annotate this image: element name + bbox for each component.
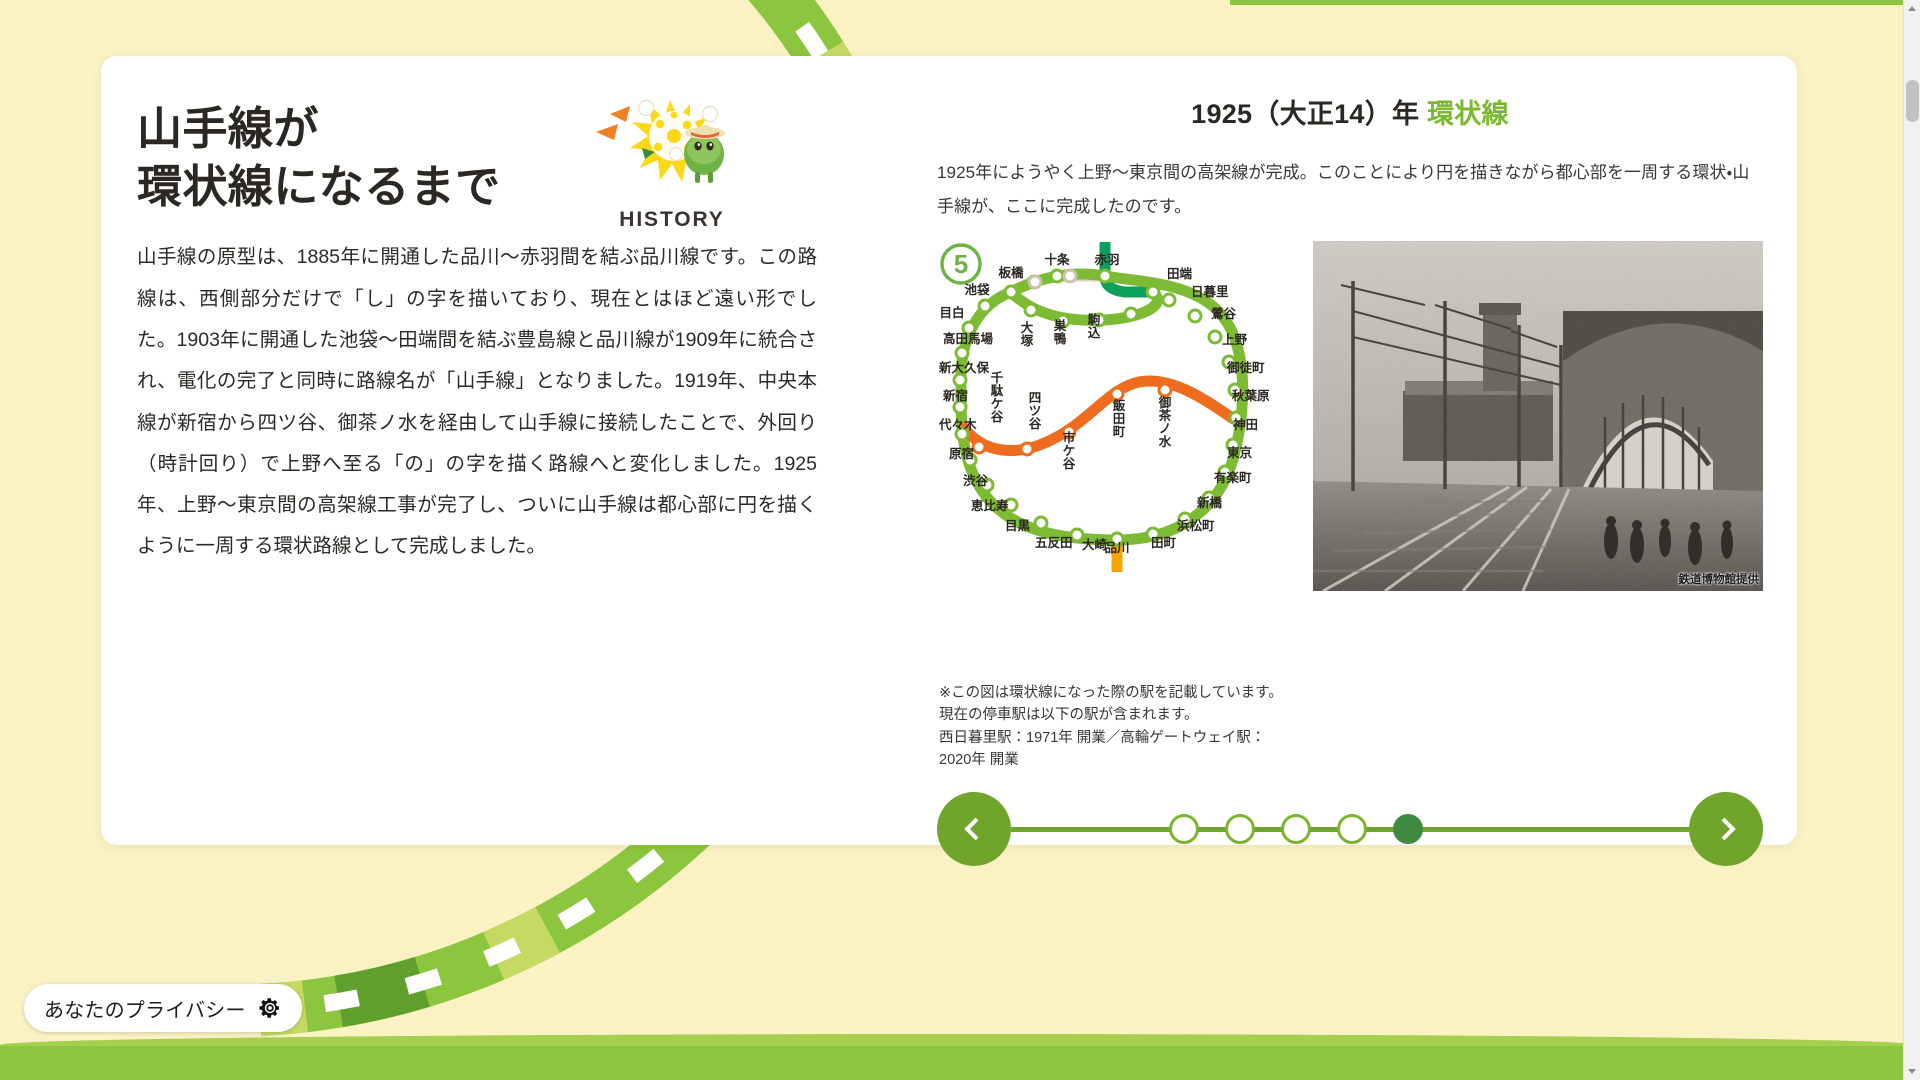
bottom-band <box>0 1046 1920 1080</box>
station-label: 有楽町 <box>1214 470 1252 485</box>
pagination-dot-1[interactable] <box>1169 814 1199 844</box>
panel-heading-year: 1925（大正14）年 <box>1191 99 1427 129</box>
station-label: 上野 <box>1222 332 1248 347</box>
panel-description: 1925年にようやく上野〜東京間の高架線が完成。このことにより円を描きながら都心… <box>937 156 1763 224</box>
station-label: 鶯谷 <box>1211 306 1237 321</box>
station-label: 田町 <box>1151 536 1177 550</box>
media-row: 5 <box>937 242 1763 592</box>
station-label: 原宿 <box>949 446 974 461</box>
map-note: ※この図は環状線になった際の駅を記載しています。 現在の停車駅は以下の駅が含まれ… <box>939 682 1319 772</box>
pagination <box>937 792 1763 870</box>
station-label: 代々木 <box>939 417 977 432</box>
station-label: 巣鴨 <box>1053 318 1067 346</box>
content-card: 山手線が 環状線になるまで <box>101 56 1797 845</box>
history-badge: HISTORY <box>592 92 752 232</box>
right-column: 1925（大正14）年 環状線 1925年にようやく上野〜東京間の高架線が完成。… <box>937 92 1763 224</box>
pagination-dot-3[interactable] <box>1281 814 1311 844</box>
station-label: 十条 <box>1044 252 1070 267</box>
photo-content <box>1313 241 1763 591</box>
chevron-right-icon <box>1713 818 1736 841</box>
station-label: 四ツ谷 <box>1029 391 1042 431</box>
station-label: 御徒町 <box>1226 360 1265 375</box>
panel-heading: 1925（大正14）年 環状線 <box>937 92 1763 131</box>
station-label: 飯田町 <box>1112 398 1126 439</box>
station-label: 秋葉原 <box>1232 388 1270 403</box>
body-copy: 山手線の原型は、1885年に開通した品川〜赤羽間を結ぶ品川線です。この路線は、西… <box>137 237 817 568</box>
station-label: 高田馬場 <box>943 331 994 346</box>
station-label: 田端 <box>1167 266 1193 281</box>
station-label: 駒込 <box>1088 312 1101 340</box>
prev-page-button[interactable] <box>937 792 1011 866</box>
step-number: 5 <box>954 249 968 279</box>
station-label: 新大久保 <box>939 360 990 375</box>
next-page-button[interactable] <box>1689 792 1763 866</box>
station-label: 千駄ケ谷 <box>991 370 1004 424</box>
scroll-down-button[interactable] <box>1904 1063 1920 1080</box>
station-label: 御茶ノ水 <box>1158 395 1172 449</box>
panel-heading-accent: 環状線 <box>1427 99 1509 129</box>
scroll-up-button[interactable] <box>1904 0 1920 17</box>
station-label: 日暮里 <box>1191 284 1229 299</box>
pagination-dot-5[interactable] <box>1393 814 1423 844</box>
page-scrollbar[interactable] <box>1903 0 1920 1080</box>
station-label: 五反田 <box>1035 536 1073 550</box>
station-label: 浜松町 <box>1177 518 1215 533</box>
scrollbar-thumb[interactable] <box>1906 80 1919 122</box>
pagination-dot-2[interactable] <box>1225 814 1255 844</box>
gear-icon <box>258 996 282 1020</box>
chevron-left-icon <box>964 818 987 841</box>
photo-caption: 鉄道博物館提供 <box>1679 571 1760 587</box>
station-label: 恵比寿 <box>971 498 1009 513</box>
station-label: 東京 <box>1227 445 1253 460</box>
historical-photo: 鉄道博物館提供 <box>1313 241 1763 591</box>
yamanote-route-map: 5 <box>939 242 1279 572</box>
photo-image <box>1313 241 1763 591</box>
station-label: 目白 <box>939 305 964 320</box>
pagination-dot-4[interactable] <box>1337 814 1367 844</box>
station-label: 池袋 <box>964 282 990 297</box>
privacy-settings-button[interactable]: あなたのプライバシー <box>24 984 302 1032</box>
station-label: 赤羽 <box>1093 252 1119 267</box>
left-column: 山手線が 環状線になるまで <box>137 100 817 568</box>
privacy-label: あなたのプライバシー <box>44 994 246 1023</box>
station-label: 神田 <box>1232 417 1258 432</box>
station-label: 渋谷 <box>963 473 989 488</box>
station-label: 新宿 <box>942 388 968 403</box>
station-label: 品川 <box>1104 541 1129 555</box>
station-label: 市ケ谷 <box>1063 430 1076 471</box>
station-label: 新橋 <box>1196 495 1223 510</box>
station-label: 目黒 <box>1005 519 1031 533</box>
top-accent-bar <box>1230 0 1920 5</box>
station-label: 大塚 <box>1021 320 1034 348</box>
mascot-icon <box>592 92 752 210</box>
history-label: HISTORY <box>592 208 752 232</box>
station-label: 板橋 <box>998 265 1024 280</box>
